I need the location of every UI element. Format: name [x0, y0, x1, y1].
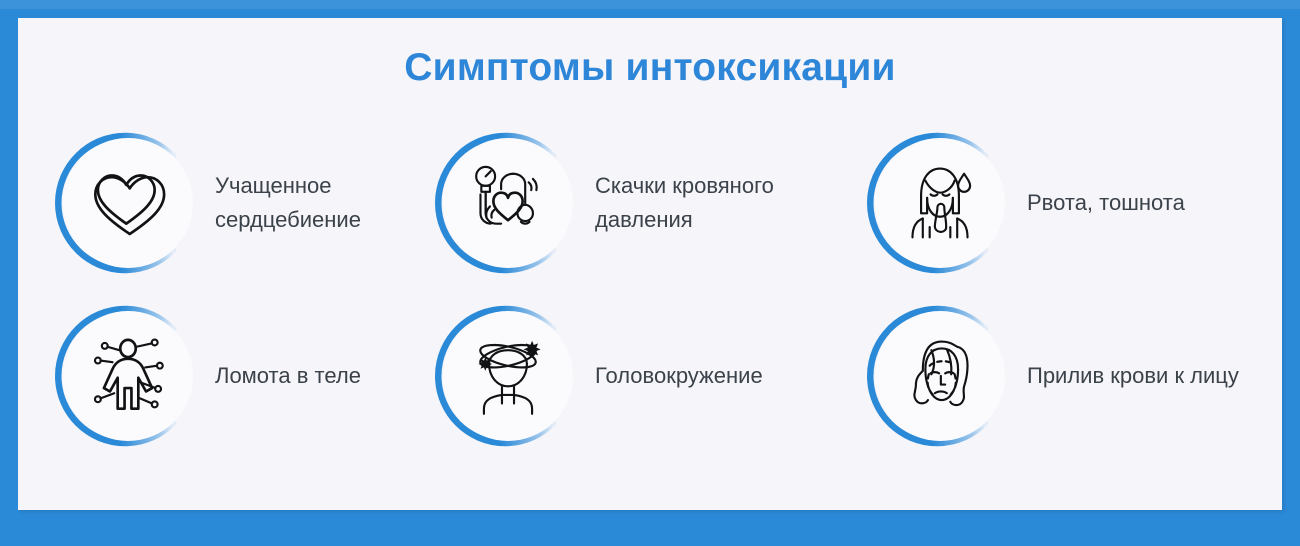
symptom-label: Учащенное сердцебиение	[215, 169, 455, 237]
symptom-label: Ломота в теле	[215, 359, 361, 393]
symptom-label: Скачки кровяного давления	[595, 169, 857, 237]
symptom-label: Прилив крови к лицу	[1027, 359, 1239, 393]
content-panel: Симптомы интоксикации	[18, 18, 1282, 510]
symptom-item-blood-pressure-spikes[interactable]: Скачки кровяного давления	[435, 116, 867, 289]
double-heart-icon	[85, 160, 171, 246]
symptoms-row-2: Ломота в теле	[18, 289, 1282, 462]
symptom-label: Головокружение	[595, 359, 763, 393]
symptom-badge	[435, 303, 581, 449]
body-ache-figure-icon	[85, 333, 171, 419]
symptom-badge	[867, 303, 1013, 449]
blood-pressure-monitor-icon	[465, 160, 551, 246]
symptom-item-body-aches[interactable]: Ломота в теле	[55, 289, 455, 462]
frame-top-highlight	[0, 0, 1300, 9]
nausea-vomiting-person-icon	[897, 160, 983, 246]
symptoms-infographic: Симптомы интоксикации	[0, 0, 1300, 546]
symptom-badge	[435, 130, 581, 276]
symptoms-grid: Учащенное сердцебиение	[18, 116, 1282, 462]
facial-flushing-face-icon	[897, 333, 983, 419]
symptom-badge	[55, 303, 201, 449]
symptom-badge	[867, 130, 1013, 276]
symptom-badge	[55, 130, 201, 276]
dizziness-head-icon	[465, 333, 551, 419]
symptom-item-vomiting-nausea[interactable]: Рвота, тошнота	[867, 116, 1282, 289]
symptom-item-facial-flushing[interactable]: Прилив крови к лицу	[867, 289, 1282, 462]
symptom-label: Рвота, тошнота	[1027, 186, 1185, 220]
symptom-item-dizziness[interactable]: Головокружение	[435, 289, 867, 462]
page-title: Симптомы интоксикации	[18, 46, 1282, 90]
symptoms-row-1: Учащенное сердцебиение	[18, 116, 1282, 289]
symptom-item-rapid-heartbeat[interactable]: Учащенное сердцебиение	[55, 116, 455, 289]
